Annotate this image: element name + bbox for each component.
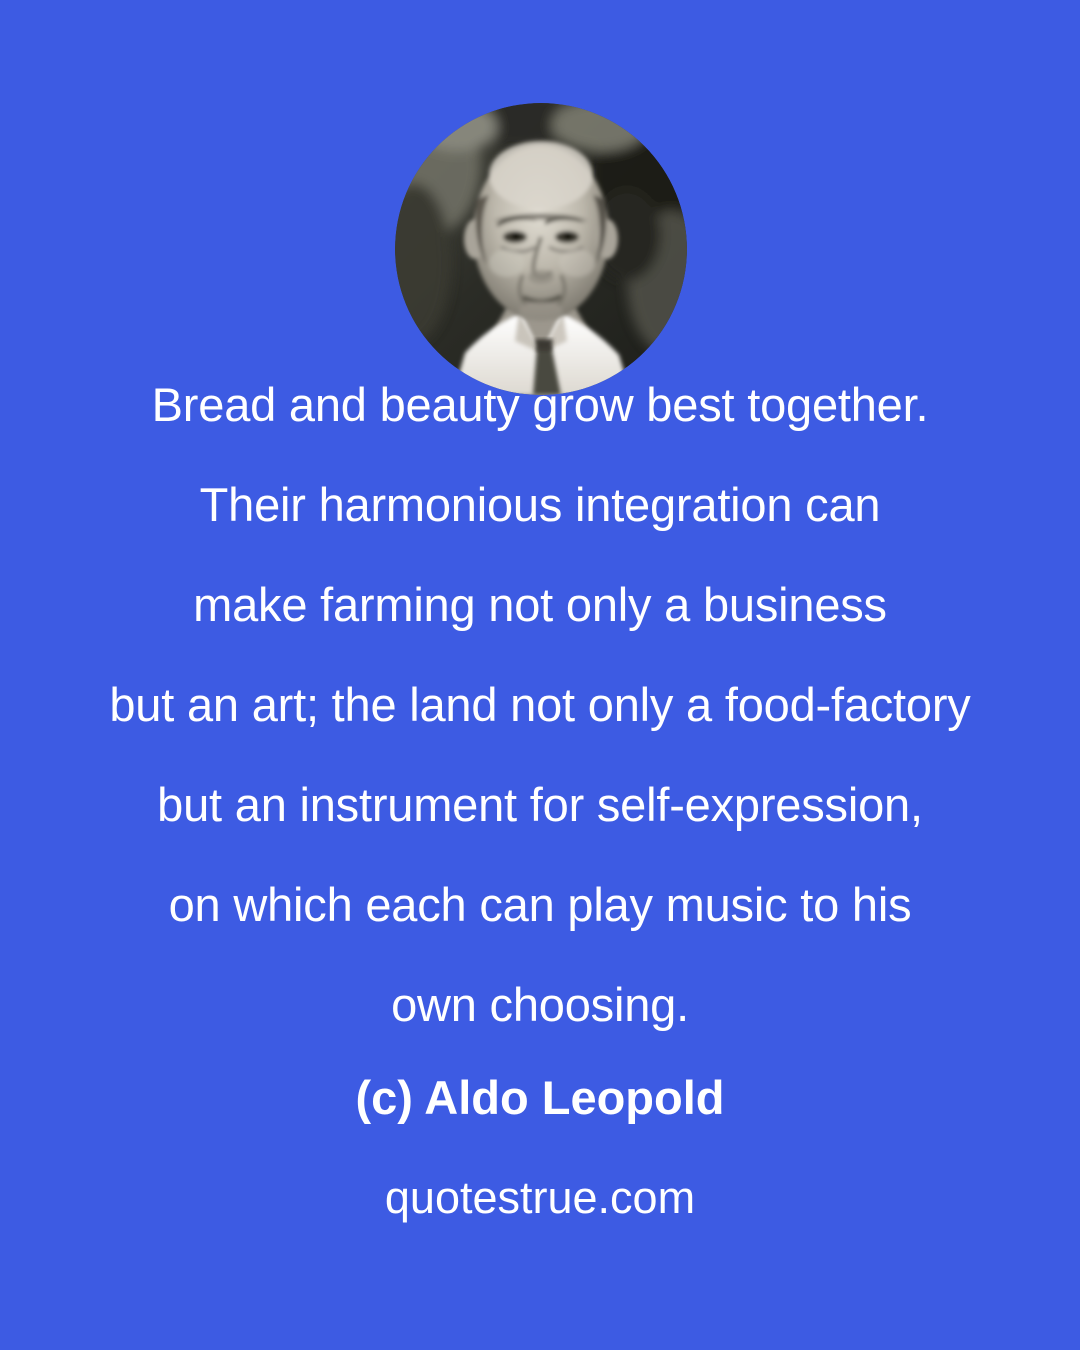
quote-text: Bread and beauty grow best together. The… (0, 355, 1080, 1055)
quote-line: own choosing. (0, 955, 1080, 1055)
quote-line: but an instrument for self-expression, (0, 755, 1080, 855)
quote-line: Their harmonious integration can (0, 455, 1080, 555)
site-watermark: quotestrue.com (0, 1168, 1080, 1228)
quote-card: Bread and beauty grow best together. The… (0, 0, 1080, 1350)
quote-line: on which each can play music to his (0, 855, 1080, 955)
quote-line: Bread and beauty grow best together. (0, 355, 1080, 455)
quote-attribution: (c) Aldo Leopold (0, 1068, 1080, 1128)
author-portrait-photo (395, 103, 687, 395)
quote-line: but an art; the land not only a food-fac… (0, 655, 1080, 755)
quote-line: make farming not only a business (0, 555, 1080, 655)
author-portrait (395, 103, 687, 395)
